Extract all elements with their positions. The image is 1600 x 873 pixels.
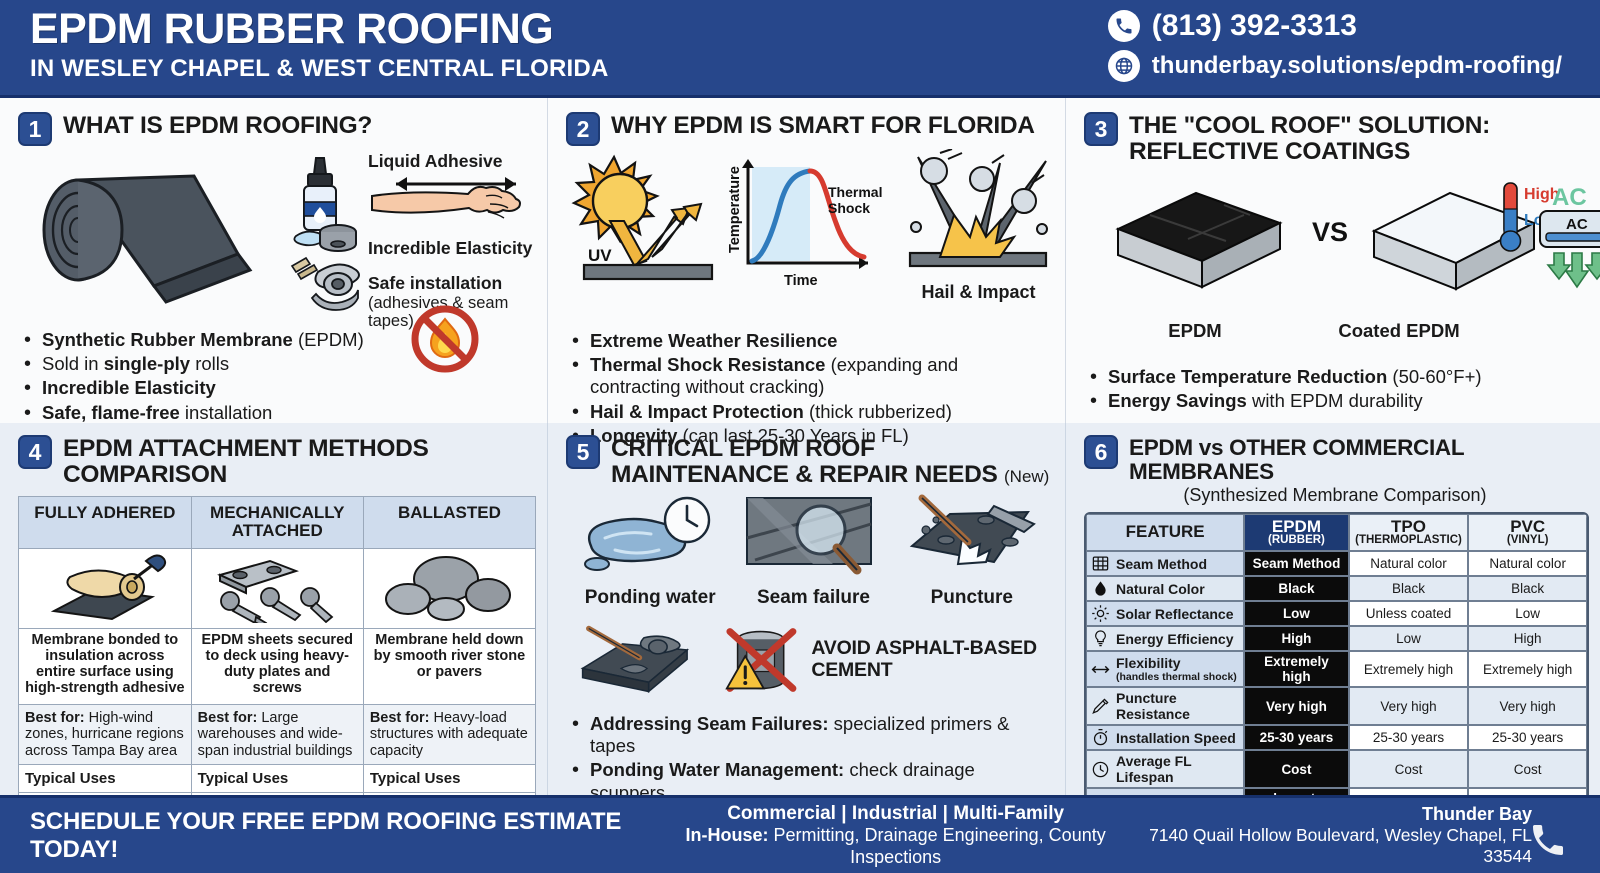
svg-text:Thermal: Thermal: [828, 184, 882, 200]
footer-inhouse: In-House: Permitting, Drainage Engineeri…: [659, 825, 1132, 869]
cell-feature: Average FL Lifespan: [1086, 750, 1244, 788]
panel-5-title-suffix: (New): [1004, 467, 1049, 486]
cell-epdm: High: [1244, 626, 1348, 651]
panel-maintenance-repair: 5 CRITICAL EPDM ROOF MAINTENANCE & REPAI…: [548, 423, 1066, 795]
cell-tpo: 25-30 years: [1349, 725, 1469, 750]
panel-1-title: WHAT IS EPDM ROOFING?: [63, 110, 372, 139]
panel-why-epdm-florida: 2 WHY EPDM IS SMART FOR FLORIDA: [548, 98, 1066, 423]
table-row: Energy EfficiencyHighLowHigh: [1086, 626, 1587, 651]
seam-failure-caption: Seam failure: [743, 587, 883, 609]
panel-6-subtitle: (Synthesized Membrane Comparison): [1084, 485, 1586, 506]
svg-text:AC: AC: [1552, 184, 1587, 211]
header-website-text: thunderbay.solutions/epdm-roofing/: [1152, 52, 1562, 80]
footer-services: Commercial | Industrial | Multi-Family: [659, 802, 1132, 825]
screwdriver-icon: [1091, 697, 1110, 716]
panel-5-second-row: AVOID ASPHALT-BASED CEMENT: [566, 613, 1051, 707]
no-asphalt-cement-icon: [713, 613, 805, 707]
hail-impact-caption: Hail & Impact: [896, 282, 1061, 303]
cell-tpo: Extremely high: [1349, 651, 1469, 687]
sun-icon: [1091, 604, 1110, 623]
phone-icon: [1528, 820, 1568, 860]
list-item: Incredible Elasticity: [18, 377, 533, 399]
panel-3-title: THE "COOL ROOF" SOLUTION: REFLECTIVE COA…: [1129, 110, 1586, 165]
epdm-slab-caption: EPDM: [1084, 320, 1306, 342]
cell-feature: Flexibility(handles thermal shock): [1086, 651, 1244, 687]
list-item: Sold in single-ply rolls: [18, 353, 533, 375]
column-header-epdm: EPDM (RUBBER): [1244, 514, 1348, 552]
double-arrow-icon: [1091, 660, 1110, 679]
cell-typical-uses: Typical Uses: [363, 765, 535, 793]
table-row: [19, 548, 536, 628]
footer-company: Thunder Bay: [1132, 804, 1532, 826]
feature-label: Natural Color: [1116, 581, 1205, 597]
table-row: Solar ReflectanceLowUnless coatedLow: [1086, 601, 1587, 626]
cell-epdm: Seam Method: [1244, 551, 1348, 576]
phone-icon: [1108, 10, 1140, 42]
cell-description: Membrane bonded to insulation across ent…: [19, 628, 192, 704]
safe-installation-label: Safe installation: [368, 274, 558, 294]
cell-tpo: Cost: [1349, 750, 1469, 788]
uv-sun-icon: UV: [566, 149, 726, 299]
cell-pvc: 25-30 years: [1468, 725, 1587, 750]
cell-feature: Seam Method: [1086, 551, 1244, 576]
cell-epdm: Extremely high: [1244, 651, 1348, 687]
panel-attachment-methods: 4 EPDM ATTACHMENT METHODS COMPARISON FUL…: [0, 423, 548, 795]
panel-6-title: EPDM vs OTHER COMMERCIAL MEMBRANES: [1129, 433, 1586, 484]
header-website[interactable]: thunderbay.solutions/epdm-roofing/: [1108, 50, 1562, 82]
feature-label: Average FL Lifespan: [1116, 753, 1191, 785]
table-row: Seam MethodSeam MethodNatural colorNatur…: [1086, 551, 1587, 576]
panel-2-title: WHY EPDM IS SMART FOR FLORIDA: [611, 110, 1035, 139]
page-subtitle: IN WESLEY CHAPEL & WEST CENTRAL FLORIDA: [30, 55, 609, 83]
cell-epdm: 25-30 years: [1244, 725, 1348, 750]
epdm-roll-icon: [26, 158, 286, 308]
epdm-vs-coated-diagram: VS High Low: [1084, 171, 1600, 321]
cell-icon: [19, 548, 192, 628]
cell-pvc: Black: [1468, 576, 1587, 601]
panel-3-bullets: Surface Temperature Reduction (50-60°F+)…: [1084, 366, 1586, 412]
list-item: Thermal Shock Resistance (expanding and …: [566, 354, 1051, 398]
panel-6-badge: 6: [1084, 435, 1118, 469]
cell-pvc: Natural color: [1468, 551, 1587, 576]
panel-5-icon-row: Ponding water Seam failure: [566, 494, 1051, 609]
table-row: Best for: High-wind zones, hurricane reg…: [19, 704, 536, 765]
panel-what-is-epdm: 1 WHAT IS EPDM ROOFING?: [0, 98, 548, 423]
primer-application-icon: [578, 613, 707, 707]
adhesive-and-tape-icon: [286, 154, 366, 324]
table-row: Typical Uses Typical Uses Typical Uses: [19, 765, 536, 793]
header-phone-text: (813) 392-3313: [1152, 9, 1357, 43]
panel-3-badge: 3: [1084, 112, 1118, 146]
feature-label: Flexibility: [1116, 655, 1181, 671]
puncture-item: Puncture: [902, 494, 1042, 609]
ponding-water-caption: Ponding water: [575, 587, 725, 609]
header-bar: EPDM RUBBER ROOFING IN WESLEY CHAPEL & W…: [0, 0, 1600, 98]
cell-tpo: Natural color: [1349, 551, 1469, 576]
uv-label: UV: [588, 246, 612, 265]
incredible-elasticity-label: Incredible Elasticity: [368, 239, 558, 259]
table-row: Average FL LifespanCostCostCost: [1086, 750, 1587, 788]
cell-best-for: Best for: Large warehouses and wide-span…: [191, 704, 363, 765]
cell-pvc: Extremely high: [1468, 651, 1587, 687]
panel-2-artwork: UV Temperature Time: [566, 149, 1051, 324]
column-header: BALLASTED: [363, 496, 535, 548]
paint-roller-icon: [40, 553, 170, 623]
feature-label: Solar Reflectance: [1116, 606, 1234, 622]
puncture-caption: Puncture: [902, 587, 1042, 609]
list-item: Synthetic Rubber Membrane (EPDM): [18, 329, 533, 351]
panel-cool-roof: 3 THE "COOL ROOF" SOLUTION: REFLECTIVE C…: [1066, 98, 1600, 423]
cell-icon: [191, 548, 363, 628]
cell-best-for: Best for: High-wind zones, hurricane reg…: [19, 704, 192, 765]
cell-epdm: Low: [1244, 601, 1348, 626]
panel-1-header: 1 WHAT IS EPDM ROOFING?: [18, 110, 533, 146]
lightbulb-icon: [1091, 629, 1110, 648]
seam-grid-icon: [1091, 554, 1110, 573]
cell-tpo: Low: [1349, 626, 1469, 651]
panel-5-title-text: CRITICAL EPDM ROOF MAINTENANCE & REPAIR …: [611, 435, 998, 488]
column-header-tpo: TPO (THERMOPLASTIC): [1349, 514, 1469, 552]
list-item: Safe, flame-free installation: [18, 402, 533, 424]
cell-tpo: Unless coated: [1349, 601, 1469, 626]
droplet-icon: [1091, 579, 1110, 598]
table-row: Puncture ResistanceVery highVery highVer…: [1086, 687, 1587, 725]
bottom-row: 4 EPDM ATTACHMENT METHODS COMPARISON FUL…: [0, 423, 1600, 795]
clock-icon: [1091, 760, 1110, 779]
ponding-water-icon: [575, 494, 725, 580]
feature-label: Seam Method: [1116, 556, 1207, 572]
liquid-adhesive-label: Liquid Adhesive: [368, 152, 558, 172]
list-item: Energy Savings with EPDM durability: [1084, 390, 1586, 412]
cell-pvc: Very high: [1468, 687, 1587, 725]
panel-3-header: 3 THE "COOL ROOF" SOLUTION: REFLECTIVE C…: [1084, 110, 1586, 165]
panel-4-header: 4 EPDM ATTACHMENT METHODS COMPARISON: [18, 433, 533, 488]
svg-text:Time: Time: [784, 273, 818, 289]
svg-text:Temperature: Temperature: [727, 166, 743, 253]
river-stones-icon: [384, 553, 514, 623]
cell-description: EPDM sheets secured to deck using heavy-…: [191, 628, 363, 704]
cell-pvc: High: [1468, 626, 1587, 651]
cell-icon: [363, 548, 535, 628]
cell-best-for: Best for: Heavy-load structures with ade…: [363, 704, 535, 765]
panel-2-header: 2 WHY EPDM IS SMART FOR FLORIDA: [566, 110, 1051, 146]
feature-label: Puncture Resistance: [1116, 690, 1190, 722]
cell-feature: Energy Efficiency: [1086, 626, 1244, 651]
svg-text:AC: AC: [1566, 216, 1588, 233]
feature-label: Installation Speed: [1116, 730, 1236, 746]
coated-epdm-caption: Coated EPDM: [1306, 320, 1492, 342]
cell-feature: Natural Color: [1086, 576, 1244, 601]
panel-3-artwork: VS High Low: [1084, 171, 1586, 356]
panel-5-badge: 5: [566, 435, 600, 469]
globe-icon: [1108, 50, 1140, 82]
footer-company-block: Thunder Bay 7140 Quail Hollow Boulevard,…: [1132, 804, 1578, 868]
list-item: Surface Temperature Reduction (50-60°F+): [1084, 366, 1586, 388]
panel-5-title: CRITICAL EPDM ROOF MAINTENANCE & REPAIR …: [611, 433, 1051, 488]
panel-5-header: 5 CRITICAL EPDM ROOF MAINTENANCE & REPAI…: [566, 433, 1051, 488]
cell-typical-uses: Typical Uses: [191, 765, 363, 793]
table-row: Membrane bonded to insulation across ent…: [19, 628, 536, 704]
cell-feature: Installation Speed: [1086, 725, 1244, 750]
list-item: Extreme Weather Resilience: [566, 330, 1051, 352]
content-area: 1 WHAT IS EPDM ROOFING?: [0, 98, 1600, 795]
cell-epdm: Very high: [1244, 687, 1348, 725]
column-header-pvc: PVC (VINYL): [1468, 514, 1587, 552]
footer-services-block: Commercial | Industrial | Multi-Family I…: [659, 802, 1132, 869]
column-header: FULLY ADHERED: [19, 496, 192, 548]
cell-typical-uses: Typical Uses: [19, 765, 192, 793]
table-header-row: FEATURE EPDM (RUBBER) TPO (THERMOPLASTIC…: [1086, 514, 1587, 552]
elastic-arm-icon: [368, 172, 553, 234]
header-phone[interactable]: (813) 392-3313: [1108, 9, 1562, 43]
cell-description: Membrane held down by smooth river stone…: [363, 628, 535, 704]
cell-pvc: Low: [1468, 601, 1587, 626]
table-row: Installation Speed25-30 years25-30 years…: [1086, 725, 1587, 750]
panel-2-badge: 2: [566, 112, 600, 146]
attachment-methods-table: FULLY ADHERED MECHANICALLY ATTACHED BALL…: [18, 496, 536, 821]
header-title-block: EPDM RUBBER ROOFING IN WESLEY CHAPEL & W…: [30, 8, 609, 83]
cell-tpo: Black: [1349, 576, 1469, 601]
table-row: Natural ColorBlackBlackBlack: [1086, 576, 1587, 601]
puncture-icon: [902, 494, 1042, 580]
cell-tpo: Very high: [1349, 687, 1469, 725]
list-item: Addressing Seam Failures: specialized pr…: [566, 713, 1051, 757]
cell-feature: Solar Reflectance: [1086, 601, 1244, 626]
infographic-page: EPDM RUBBER ROOFING IN WESLEY CHAPEL & W…: [0, 0, 1600, 873]
panel-membrane-comparison: 6 EPDM vs OTHER COMMERCIAL MEMBRANES (Sy…: [1066, 423, 1600, 795]
column-header-feature: FEATURE: [1086, 514, 1244, 552]
avoid-asphalt-label: AVOID ASPHALT-BASED CEMENT: [811, 638, 1051, 682]
ponding-water-item: Ponding water: [575, 494, 725, 609]
footer-address: 7140 Quail Hollow Boulevard, Wesley Chap…: [1132, 825, 1532, 867]
panel-4-title: EPDM ATTACHMENT METHODS COMPARISON: [63, 433, 533, 488]
list-item: Hail & Impact Protection (thick rubberiz…: [566, 401, 1051, 423]
panel-1-badge: 1: [18, 112, 52, 146]
table-row: Flexibility(handles thermal shock)Extrem…: [1086, 651, 1587, 687]
hail-impact-icon: [896, 149, 1061, 277]
feature-label: Energy Efficiency: [1116, 631, 1234, 647]
panel-1-artwork: Liquid Adhesive Incredible Elasticity Sa…: [18, 148, 533, 323]
panel-6-header: 6 EPDM vs OTHER COMMERCIAL MEMBRANES: [1084, 433, 1586, 484]
top-row: 1 WHAT IS EPDM ROOFING?: [0, 98, 1600, 423]
cell-pvc: Cost: [1468, 750, 1587, 788]
panel-4-badge: 4: [18, 435, 52, 469]
plate-and-screws-icon: [212, 553, 342, 623]
cell-epdm: Black: [1244, 576, 1348, 601]
footer-bar: SCHEDULE YOUR FREE EPDM ROOFING ESTIMATE…: [0, 795, 1600, 873]
stopwatch-icon: [1091, 728, 1110, 747]
cell-feature: Puncture Resistance: [1086, 687, 1244, 725]
seam-failure-icon: [743, 494, 883, 580]
svg-text:Shock: Shock: [828, 200, 870, 216]
thermal-shock-chart: Temperature Time Thermal Shock: [726, 149, 898, 299]
header-contact-block: (813) 392-3313 thunderbay.solutions/epdm…: [1108, 9, 1574, 82]
cell-epdm: Cost: [1244, 750, 1348, 788]
footer-cta[interactable]: SCHEDULE YOUR FREE EPDM ROOFING ESTIMATE…: [30, 808, 659, 864]
column-header: MECHANICALLY ATTACHED: [191, 496, 363, 548]
table-header-row: FULLY ADHERED MECHANICALLY ATTACHED BALL…: [19, 496, 536, 548]
seam-failure-item: Seam failure: [743, 494, 883, 609]
vs-label: VS: [1312, 217, 1348, 247]
page-title: EPDM RUBBER ROOFING: [30, 8, 609, 52]
